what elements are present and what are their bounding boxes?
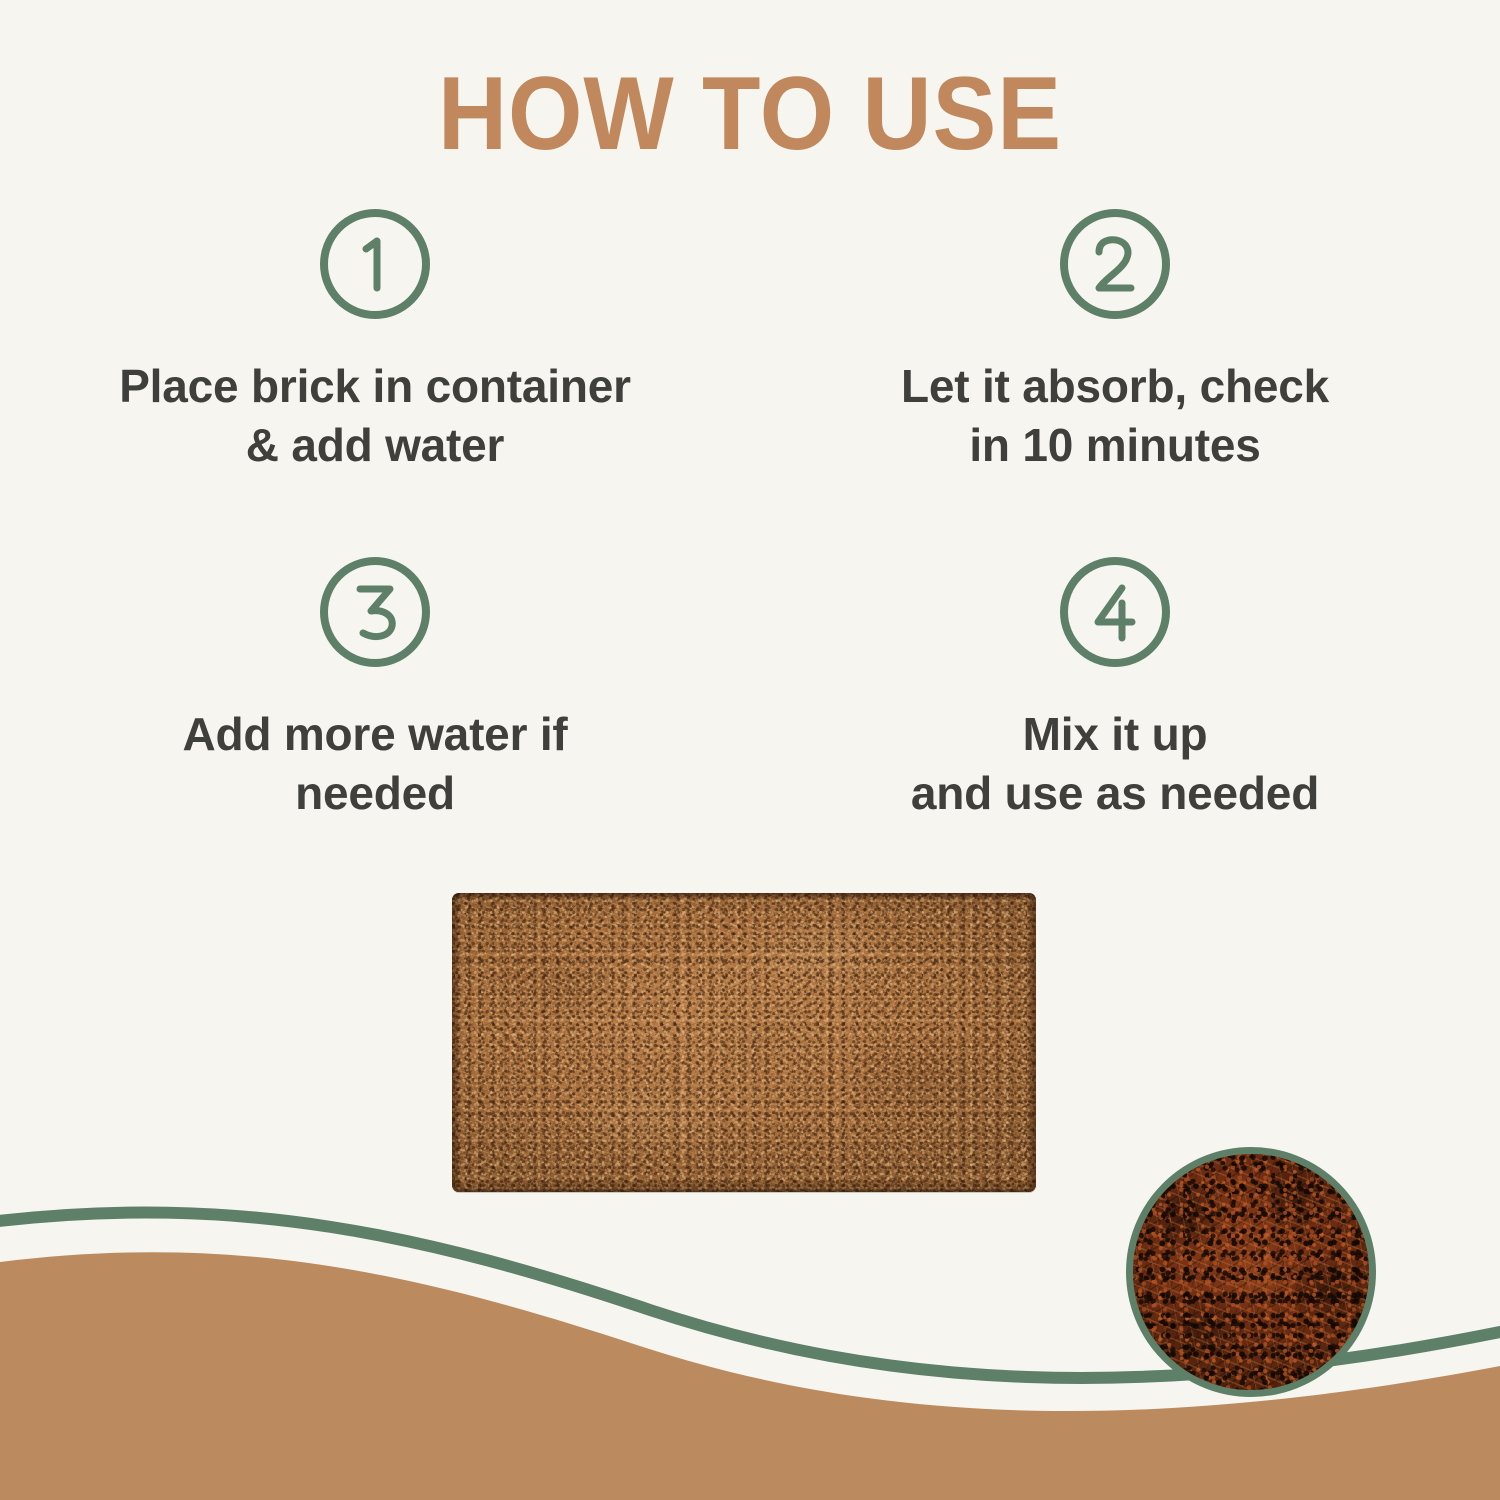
step-description-2: Let it absorb, check in 10 minutes — [770, 357, 1460, 475]
loose-coir-soil-circle-photo — [1126, 1147, 1376, 1397]
circled-number-4-icon — [1056, 553, 1174, 671]
step-item-2: Let it absorb, check in 10 minutes — [770, 205, 1460, 475]
step-description-3: Add more water if needed — [30, 705, 720, 823]
step-description-4: Mix it up and use as needed — [770, 705, 1460, 823]
page-title: HOW TO USE — [60, 58, 1440, 170]
circled-number-1-icon — [316, 205, 434, 323]
circled-number-3-icon — [316, 553, 434, 671]
step-item-3: Add more water if needed — [30, 553, 720, 823]
step-item-4: Mix it up and use as needed — [770, 553, 1460, 823]
circled-number-2-icon — [1056, 205, 1174, 323]
brick-edge-shadow — [452, 893, 1036, 1192]
soil-grain-layer — [1126, 1147, 1376, 1397]
poster-canvas: HOW TO USE Place brick in container & ad… — [0, 0, 1500, 1500]
coco-coir-brick-photo — [452, 893, 1036, 1192]
step-description-1: Place brick in container & add water — [30, 357, 720, 475]
step-item-1: Place brick in container & add water — [30, 205, 720, 475]
